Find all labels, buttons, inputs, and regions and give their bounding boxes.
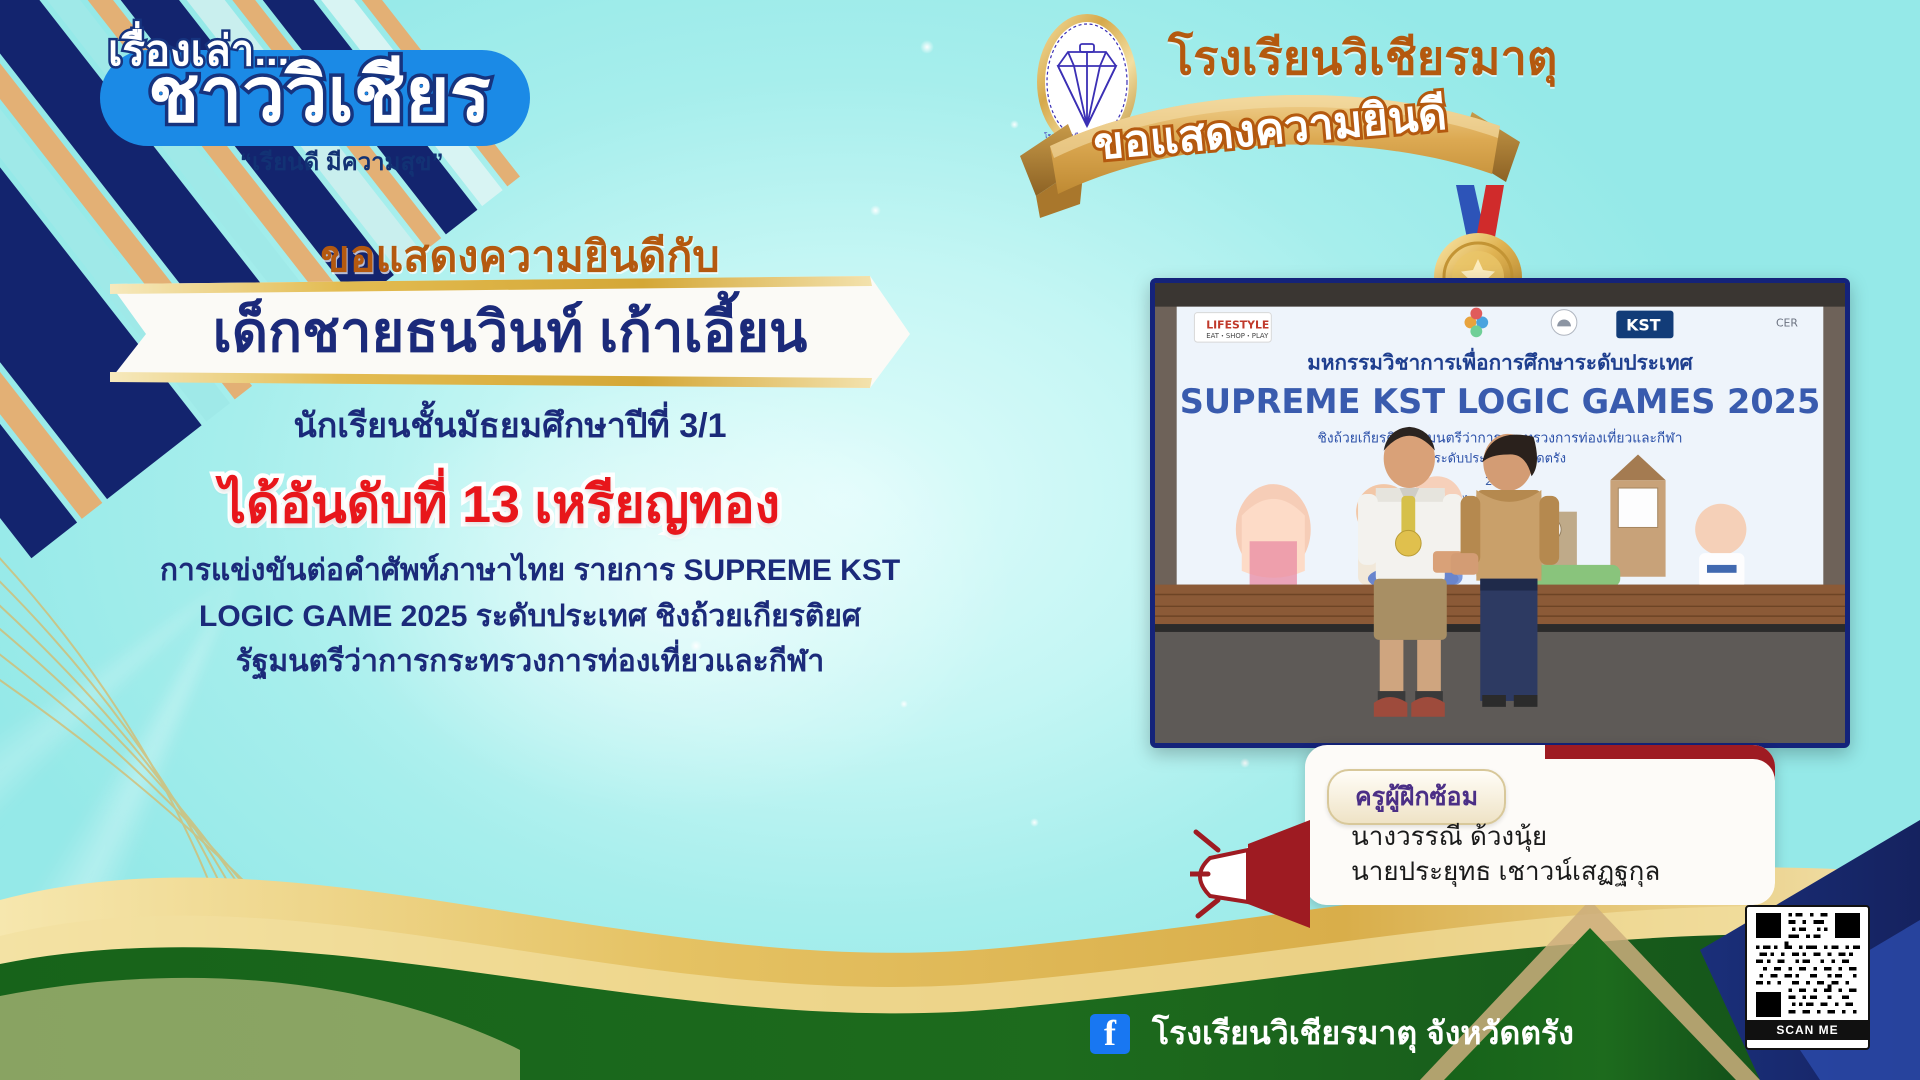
award-ceremony-photo: LIFESTYLE EAT・SHOP・PLAY KST CER มหกรรมวิ… xyxy=(1150,278,1850,748)
footer-social[interactable]: โรงเรียนวิเชียรมาตุ จังหวัดตรัง xyxy=(1090,1008,1574,1059)
student-class-level: นักเรียนชั้นมัธยมศึกษาปีที่ 3/1 xyxy=(0,398,1020,452)
trainer-name: นายประยุทธ เชาวน์เสฏฐกุล xyxy=(1351,854,1660,889)
sparkle-decoration xyxy=(870,205,881,216)
qr-code-graphic xyxy=(1756,913,1860,1017)
award-rank-text: ได้อันดับที่ 13 เหรียญทอง xyxy=(0,462,1000,545)
facebook-icon[interactable] xyxy=(1090,1014,1130,1054)
trainer-card: ครูผู้ฝึกซ้อม นางวรรณี ด้วงนุ้ย นายประยุ… xyxy=(1305,745,1775,905)
svg-text:LIFESTYLE: LIFESTYLE xyxy=(1206,318,1269,331)
competition-description: การแข่งขันต่อคำศัพท์ภาษาไทย รายการ SUPRE… xyxy=(60,548,1000,685)
svg-text:EAT・SHOP・PLAY: EAT・SHOP・PLAY xyxy=(1206,332,1269,340)
facebook-page-name: โรงเรียนวิเชียรมาตุ จังหวัดตรัง xyxy=(1152,1008,1574,1059)
trainer-role-label: ครูผู้ฝึกซ้อม xyxy=(1327,769,1506,825)
svg-text:มหกรรมวิชาการเพื่อการศึกษาระดั: มหกรรมวิชาการเพื่อการศึกษาระดับประเทศ xyxy=(1307,348,1693,375)
sparkle-decoration xyxy=(900,700,908,708)
qr-scan-label: SCAN ME xyxy=(1747,1020,1868,1040)
trainer-names: นางวรรณี ด้วงนุ้ย นายประยุทธ เชาวน์เสฏฐก… xyxy=(1351,819,1660,889)
poster-canvas: เรื่องเล่า.... ชาววิเชียร “เรียนดี มีควา… xyxy=(0,0,1920,1080)
brand-motto: “เรียนดี มีความสุข” xyxy=(240,142,444,181)
description-line: การแข่งขันต่อคำศัพท์ภาษาไทย รายการ SUPRE… xyxy=(60,548,1000,594)
svg-text:SUPREME KST LOGIC GAMES 2025: SUPREME KST LOGIC GAMES 2025 xyxy=(1180,382,1821,421)
sparkle-decoration xyxy=(920,40,934,54)
student-name: เด็กชายธนวินท์ เก้าเอี้ยน xyxy=(110,300,910,364)
sparkle-decoration xyxy=(1030,818,1039,827)
sparkle-decoration xyxy=(1240,758,1250,768)
svg-text:CER: CER xyxy=(1776,316,1798,329)
brand-line-2: ชาววิเชียร xyxy=(148,58,491,134)
qr-code[interactable]: SCAN ME xyxy=(1745,905,1870,1050)
megaphone-icon xyxy=(1190,820,1320,930)
description-line: รัฐมนตรีว่าการกระทรวงการท่องเที่ยวและกีฬ… xyxy=(60,639,1000,685)
description-line: LOGIC GAME 2025 ระดับประเทศ ชิงถ้วยเกียร… xyxy=(60,594,1000,640)
trainer-name: นางวรรณี ด้วงนุ้ย xyxy=(1351,819,1660,854)
svg-text:KST: KST xyxy=(1626,315,1661,334)
